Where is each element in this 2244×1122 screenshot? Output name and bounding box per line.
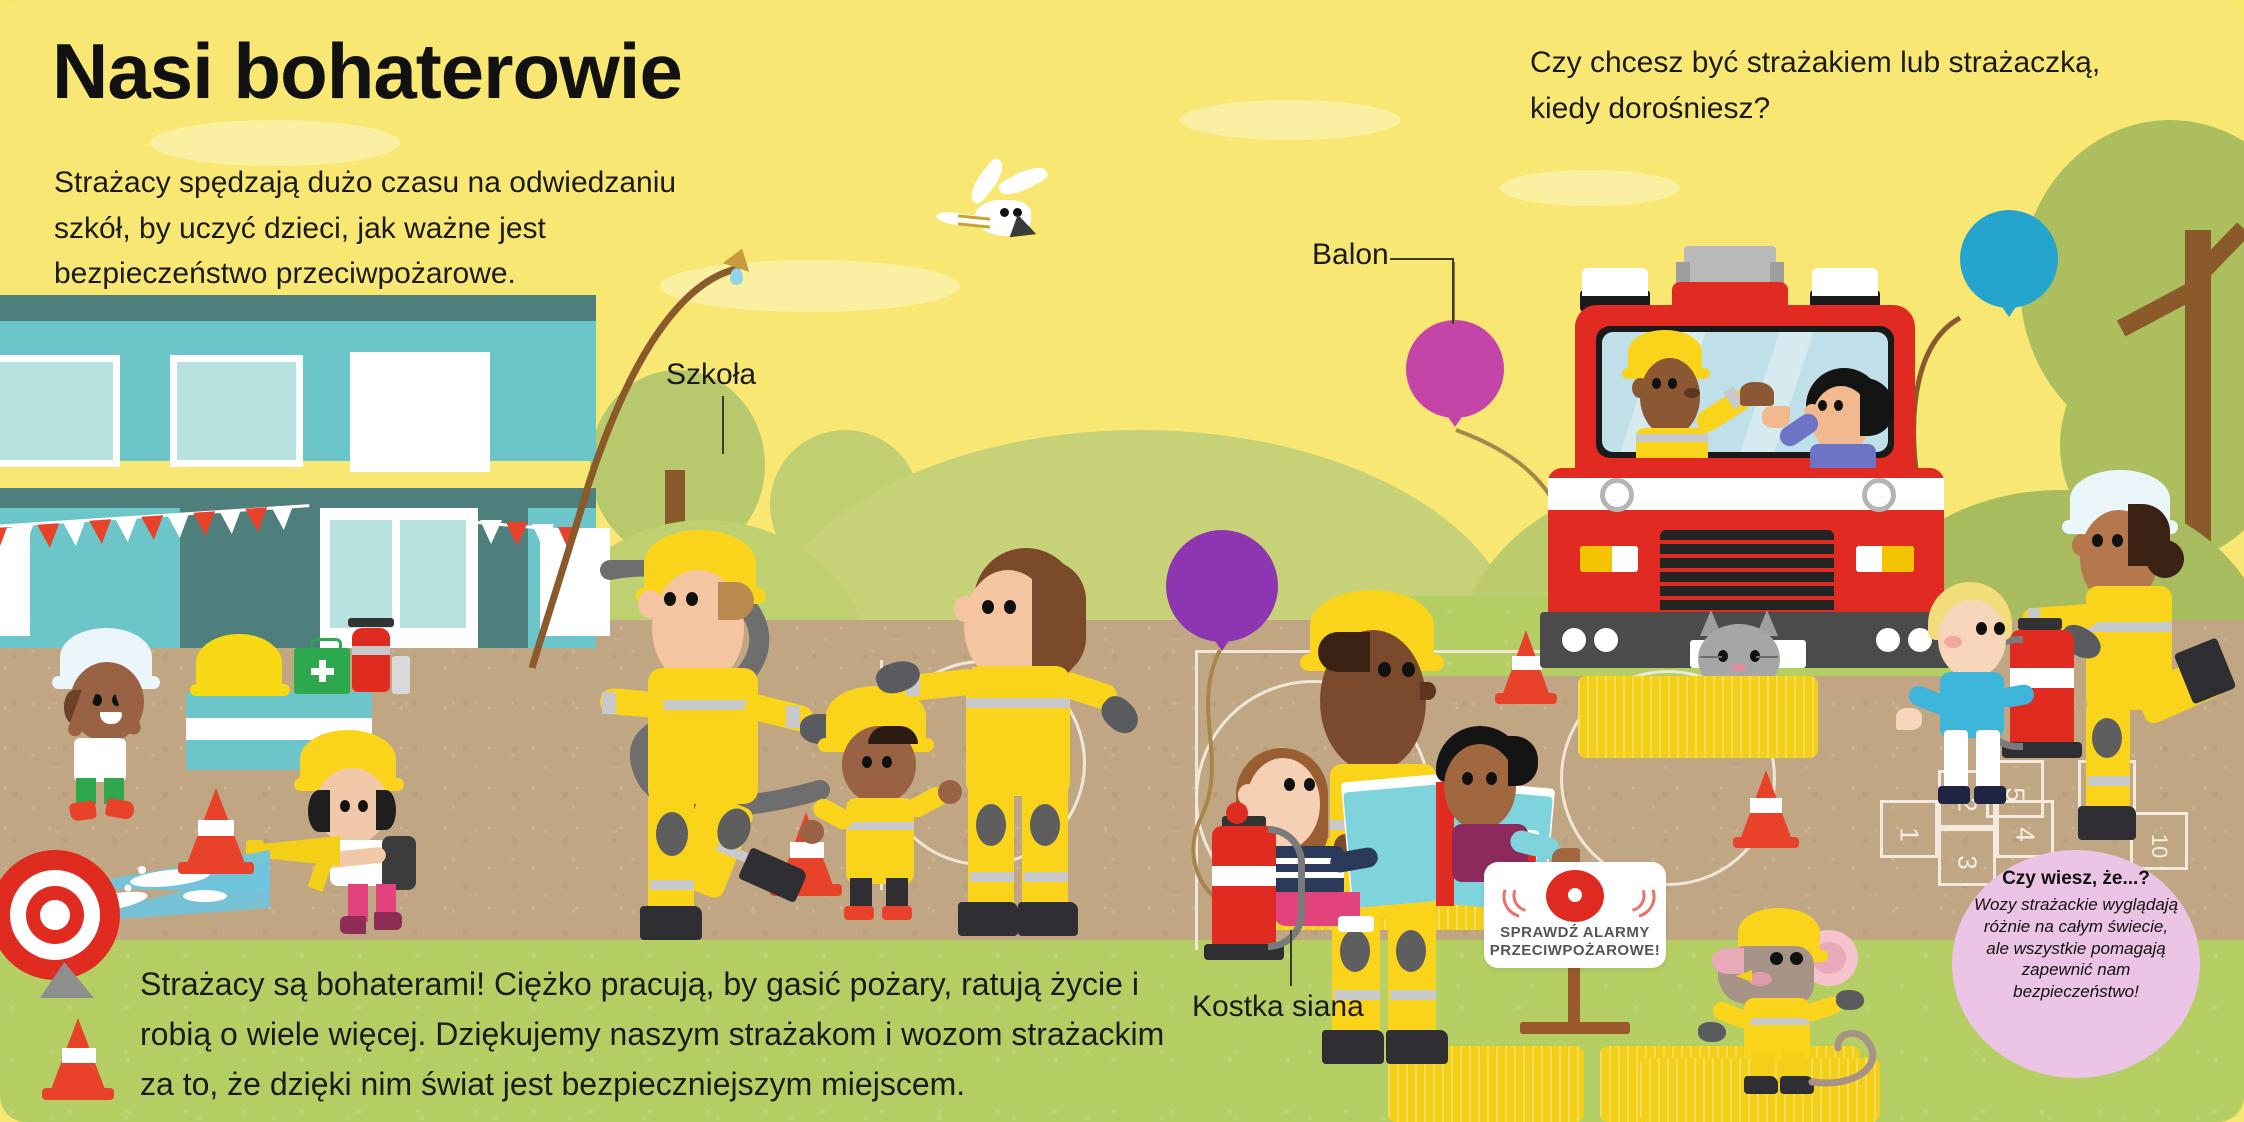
closing-paragraph: Strażacy są bohaterami! Ciężko pracują, … — [140, 960, 1170, 1110]
speech-bubble-heading: Czy wiesz, że...? — [1952, 868, 2200, 890]
headlight-right — [1862, 478, 1896, 512]
yellow-helmet-brim — [190, 684, 290, 696]
callout-balon: Balon — [1312, 238, 1389, 272]
hay-bale-truck — [1578, 676, 1818, 758]
alarm-sign-line1: SPRAWDŹ ALARMY — [1484, 924, 1666, 941]
extinguisher-handle-table — [348, 618, 394, 627]
headlight-left — [1600, 478, 1634, 512]
question-paragraph: Czy chcesz być strażakiem lub strażaczką… — [1530, 40, 2170, 131]
spray-can — [392, 656, 410, 694]
speech-bubble: Czy wiesz, że...? Wozy strażackie wygląd… — [1952, 850, 2200, 1078]
alarm-bell-center — [1568, 888, 1582, 902]
school-window-2 — [170, 355, 303, 467]
hopscotch-number-1: 1 — [1894, 809, 1925, 861]
school-window-1 — [0, 355, 120, 467]
speech-bubble-body: Wozy strażackie wyglądają różnie na cały… — [1952, 894, 2200, 1003]
hopscotch-number-10: 10 — [2146, 820, 2172, 872]
intro-paragraph: Strażacy spędzają dużo czasu na odwiedza… — [54, 160, 744, 297]
first-aid-handle — [310, 638, 342, 653]
callout-kostka-siana: Kostka siana — [1192, 990, 1364, 1024]
first-aid-cross-h — [311, 668, 334, 675]
alarm-sign-line2: PRZECIWPOŻAROWE! — [1484, 942, 1666, 959]
leader-szkola — [722, 396, 724, 454]
leader-balon-v — [1452, 258, 1454, 324]
callout-szkola: Szkoła — [666, 358, 756, 392]
leader-balon-h — [1390, 258, 1454, 260]
extinguisher-on-table — [352, 628, 390, 692]
alarm-wave-right-2 — [1598, 863, 1664, 927]
illustration-page: 1 2 3 4 5 8 10 — [0, 0, 2244, 1122]
leader-kostka-siana — [1290, 930, 1292, 986]
extinguisher-band-table — [352, 646, 390, 655]
cloud-2 — [1180, 100, 1400, 140]
page-title: Nasi bohaterowie — [52, 26, 682, 117]
cloud-4 — [1500, 170, 1680, 206]
hopscotch-square-10: 10 — [2130, 812, 2188, 870]
hopscotch-square-1: 1 — [1880, 800, 1938, 858]
